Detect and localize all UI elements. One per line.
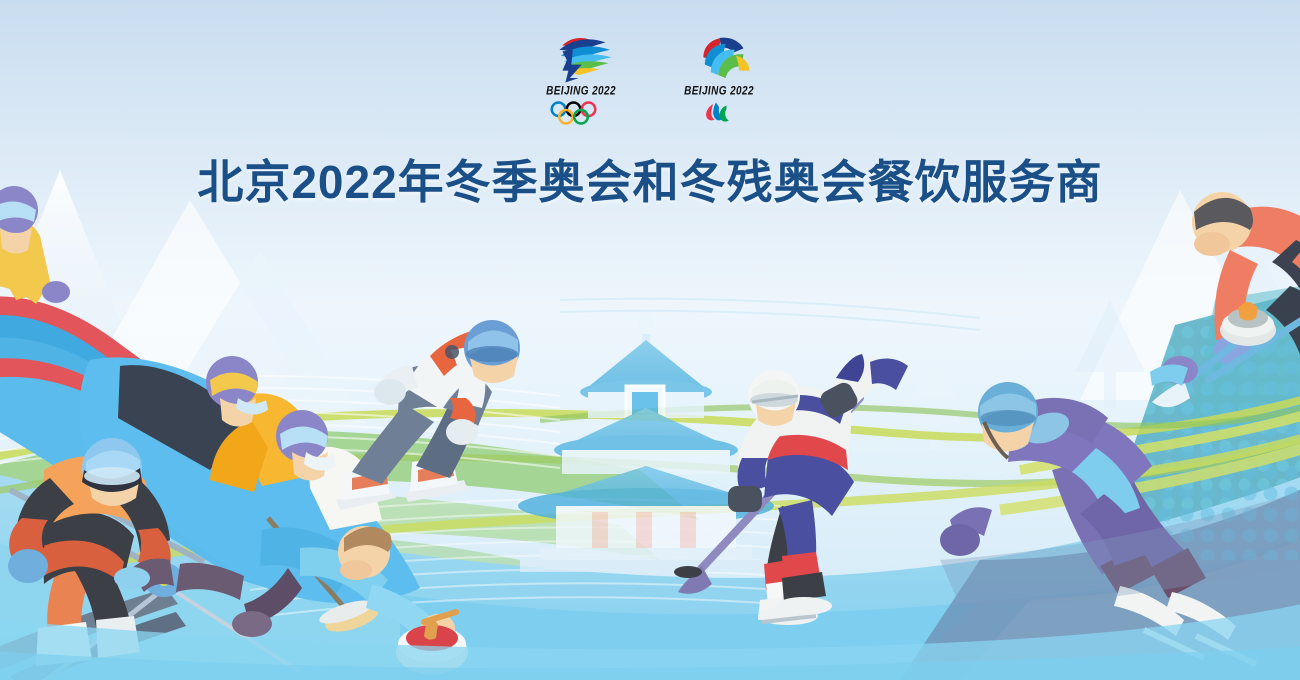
page-title: 北京2022年冬季奥会和冬残奥会餐饮服务商 [0, 146, 1300, 212]
beijing-2022-banner: BEIJING 2022 [0, 0, 1300, 680]
paralympic-logo: BEIJING 2022 [669, 32, 769, 125]
olympic-rings-icon [545, 101, 617, 125]
winter-olympics-dong-emblem-icon [540, 32, 622, 84]
logo-row: BEIJING 2022 [0, 32, 1300, 132]
agitos-icon [683, 101, 755, 125]
olympic-logo: BEIJING 2022 [531, 32, 631, 125]
winter-paralympics-fei-emblem-icon [678, 32, 760, 84]
title-block: BEIJING 2022 [0, 0, 1300, 212]
paralympic-wordmark: BEIJING 2022 [684, 85, 754, 98]
olympic-wordmark: BEIJING 2022 [546, 85, 616, 98]
